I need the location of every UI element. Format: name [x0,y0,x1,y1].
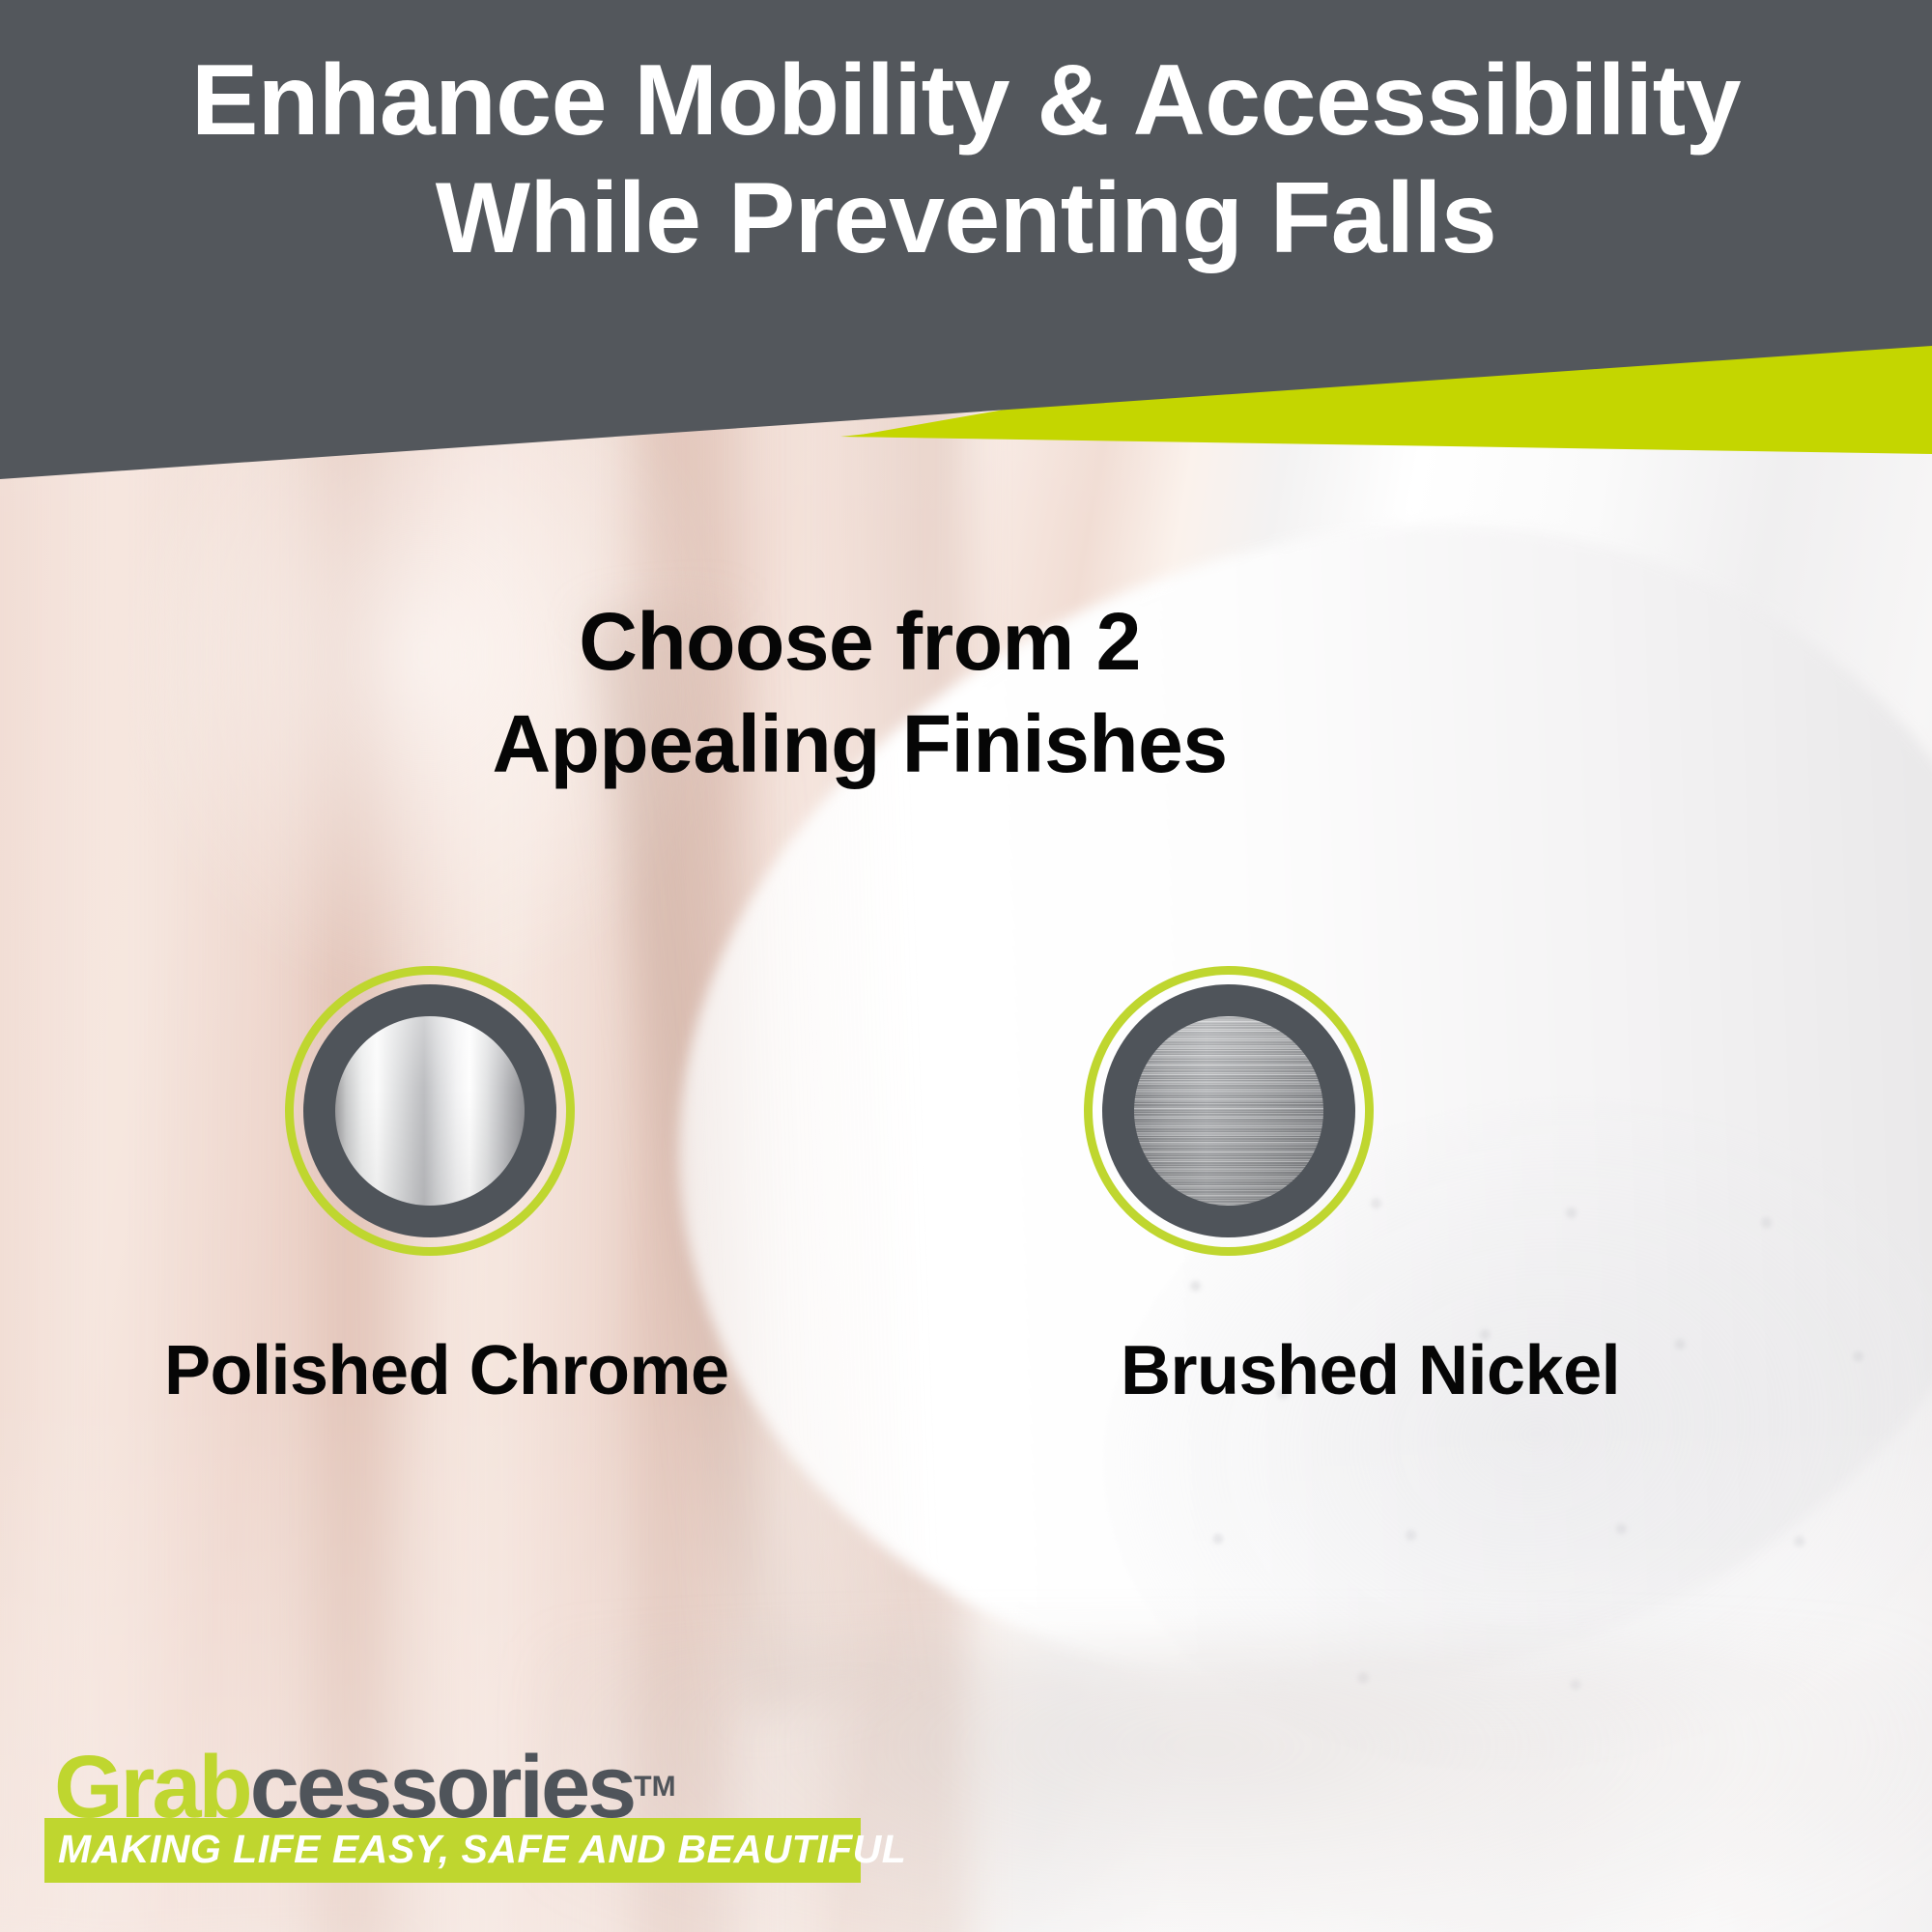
swatch-fill-brushed-nickel [1134,1016,1323,1206]
finish-swatch-brushed-nickel[interactable] [1084,966,1374,1256]
brand-tagline-bar: MAKING LIFE EASY, SAFE AND BEAUTIFUL [44,1818,861,1883]
swatch-fill-polished-chrome [335,1016,525,1206]
banner-canvas: Enhance Mobility & Accessibility While P… [0,0,1932,1932]
finish-swatch-polished-chrome[interactable] [285,966,575,1256]
brand-logo[interactable]: GrabcessoriesTM MAKING LIFE EASY, SAFE A… [44,1745,861,1883]
brand-logo-wordmark: GrabcessoriesTM [44,1745,861,1830]
brand-tagline: MAKING LIFE EASY, SAFE AND BEAUTIFUL [58,1827,861,1872]
brand-logo-grab: Grab [54,1738,250,1836]
brand-logo-cessories: cessories [250,1738,635,1836]
finish-label-polished-chrome: Polished Chrome [164,1331,729,1410]
finish-swatches: Polished Chrome Brushed Nickel [0,0,1932,1932]
trademark-icon: TM [634,1771,675,1803]
finish-label-brushed-nickel: Brushed Nickel [1121,1331,1620,1410]
